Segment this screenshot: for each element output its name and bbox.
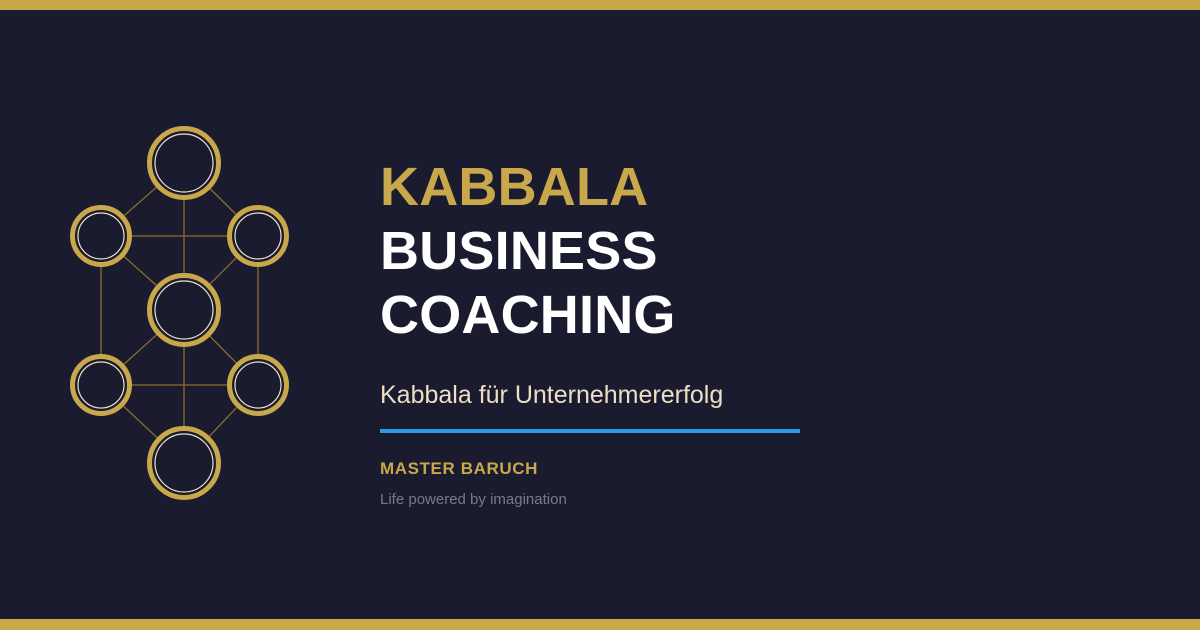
tree-node-outer-ring xyxy=(150,276,219,345)
tree-link-tiferet-netzach xyxy=(124,335,157,364)
tree-node-netzach xyxy=(73,357,130,414)
tree-node-outer-ring xyxy=(73,208,130,265)
tree-node-malkhut xyxy=(150,429,219,498)
tree-node-inner-ring xyxy=(155,281,213,339)
tree-node-outer-ring xyxy=(73,357,130,414)
title-line-kabbala: KABBALA xyxy=(380,155,1000,219)
subtitle: Kabbala für Unternehmererfolg xyxy=(380,379,1000,411)
tree-node-inner-ring xyxy=(235,213,281,259)
top-gold-bar xyxy=(0,0,1200,10)
tree-link-netzach-malkhut xyxy=(124,406,157,437)
author-name: MASTER BARUCH xyxy=(380,459,1000,479)
tree-node-outer-ring xyxy=(230,357,287,414)
tree-node-outer-ring xyxy=(150,429,219,498)
tree-node-inner-ring xyxy=(235,362,281,408)
bottom-gold-bar xyxy=(0,619,1200,630)
tree-link-binah-tiferet xyxy=(210,258,236,284)
tree-link-tiferet-hod xyxy=(210,336,236,363)
tree-node-tiferet xyxy=(150,276,219,345)
title-line-coaching: COACHING xyxy=(380,283,1000,347)
kabbala-business-coaching-banner: KABBALA BUSINESS COACHING Kabbala für Un… xyxy=(0,0,1200,630)
tree-link-hod-malkhut xyxy=(209,407,236,436)
tree-link-keter-binah xyxy=(210,189,236,214)
tree-node-inner-ring xyxy=(78,213,124,259)
title-line-business: BUSINESS xyxy=(380,219,1000,283)
tree-link-keter-chokhmah xyxy=(124,187,156,215)
text-block: KABBALA BUSINESS COACHING Kabbala für Un… xyxy=(380,155,1000,508)
tree-node-inner-ring xyxy=(155,134,213,192)
tagline: Life powered by imagination xyxy=(380,491,1000,508)
tree-of-life-svg xyxy=(40,95,340,525)
tree-node-chokhmah xyxy=(73,208,130,265)
tree-node-keter xyxy=(150,129,219,198)
tree-node-outer-ring xyxy=(150,129,219,198)
tree-node-inner-ring xyxy=(78,362,124,408)
tree-of-life-emblem xyxy=(40,95,340,525)
tree-node-inner-ring xyxy=(155,434,213,492)
tree-node-outer-ring xyxy=(230,208,287,265)
tree-link-chokhmah-tiferet xyxy=(124,257,156,286)
tree-node-binah xyxy=(230,208,287,265)
blue-divider-rule xyxy=(380,429,800,433)
tree-nodes-group xyxy=(73,129,287,498)
tree-node-hod xyxy=(230,357,287,414)
